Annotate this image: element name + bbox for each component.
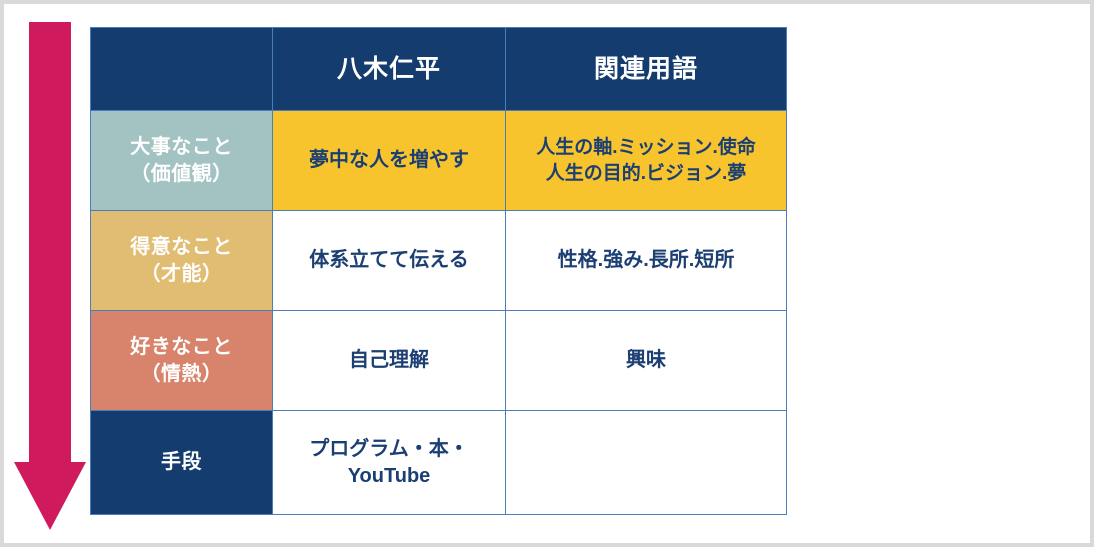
row-label-values: 大事なこと （価値観）: [91, 111, 273, 211]
row-label-passion: 好きなこと （情熱）: [91, 311, 273, 411]
cell-yagi-means-line2: YouTube: [279, 463, 499, 489]
cell-related-passion-line1: 興味: [512, 347, 780, 373]
cell-related-talent-line1: 性格.強み.長所.短所: [512, 247, 780, 273]
header-cell-corner: [91, 28, 273, 111]
cell-yagi-values: 夢中な人を増やす: [273, 111, 506, 211]
table-row: 大事なこと （価値観） 夢中な人を増やす 人生の軸.ミッション.使命 人生の目的…: [91, 111, 787, 211]
table-row: 手段 プログラム・本・ YouTube: [91, 411, 787, 515]
cell-yagi-talent: 体系立てて伝える: [273, 211, 506, 311]
row-label-passion-line2: （情熱）: [97, 361, 266, 387]
cell-yagi-passion: 自己理解: [273, 311, 506, 411]
cell-yagi-talent-line1: 体系立てて伝える: [279, 247, 499, 273]
cell-yagi-means-line1: プログラム・本・: [279, 436, 499, 462]
row-label-passion-line1: 好きなこと: [97, 334, 266, 360]
cell-related-means: [506, 411, 787, 515]
cell-yagi-means: プログラム・本・ YouTube: [273, 411, 506, 515]
slide-canvas: 八木仁平 関連用語 大事なこと （価値観） 夢中な人を増やす 人生の軸.ミッショ…: [0, 0, 1094, 547]
cell-related-passion: 興味: [506, 311, 787, 411]
table-row: 好きなこと （情熱） 自己理解 興味: [91, 311, 787, 411]
cell-related-values-line1: 人生の軸.ミッション.使命: [512, 135, 780, 160]
row-label-values-line1: 大事なこと: [97, 134, 266, 160]
table-row: 得意なこと （才能） 体系立てて伝える 性格.強み.長所.短所: [91, 211, 787, 311]
row-label-talent-line2: （才能）: [97, 261, 266, 287]
row-label-means: 手段: [91, 411, 273, 515]
cell-related-talent: 性格.強み.長所.短所: [506, 211, 787, 311]
arrow-shape: [14, 22, 86, 530]
row-label-talent: 得意なこと （才能）: [91, 211, 273, 311]
downward-progress-arrow: [10, 22, 90, 530]
header-cell-related: 関連用語: [506, 28, 787, 111]
row-label-values-line2: （価値観）: [97, 161, 266, 187]
cell-related-values-line2: 人生の目的.ビジョン.夢: [512, 161, 780, 186]
cell-related-values: 人生の軸.ミッション.使命 人生の目的.ビジョン.夢: [506, 111, 787, 211]
cell-yagi-passion-line1: 自己理解: [279, 347, 499, 373]
cell-yagi-values-line1: 夢中な人を増やす: [279, 147, 499, 173]
header-cell-yagi: 八木仁平: [273, 28, 506, 111]
row-label-talent-line1: 得意なこと: [97, 234, 266, 260]
table-header-row: 八木仁平 関連用語: [91, 28, 787, 111]
comparison-table: 八木仁平 関連用語 大事なこと （価値観） 夢中な人を増やす 人生の軸.ミッショ…: [90, 27, 787, 515]
row-label-means-line1: 手段: [97, 449, 266, 475]
